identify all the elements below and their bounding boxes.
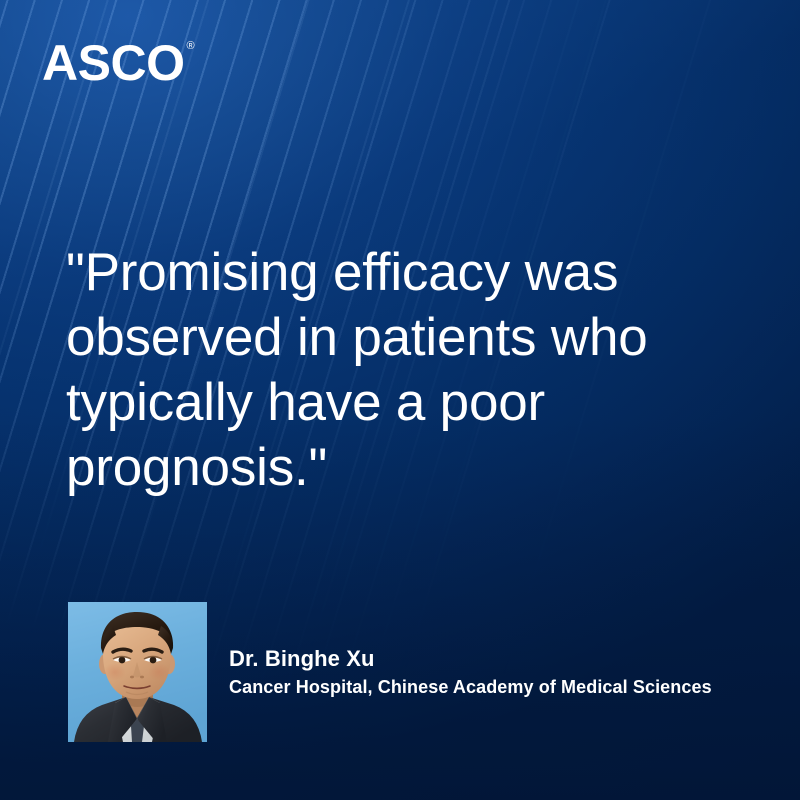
asco-logo-wordmark: ASCO (42, 38, 184, 88)
asco-logo: ASCO ® (42, 38, 195, 88)
attribution-block: Dr. Binghe Xu Cancer Hospital, Chinese A… (68, 602, 712, 742)
speaker-name: Dr. Binghe Xu (229, 644, 712, 674)
attribution-text: Dr. Binghe Xu Cancer Hospital, Chinese A… (229, 602, 712, 700)
quote-card: ASCO ® "Promising efficacy was observed … (0, 0, 800, 800)
pull-quote-text: "Promising efficacy was observed in pati… (66, 240, 716, 500)
speaker-organization: Cancer Hospital, Chinese Academy of Medi… (229, 674, 712, 700)
registered-trademark-icon: ® (186, 41, 194, 52)
speaker-portrait-photo (68, 602, 207, 742)
portrait-illustration (68, 602, 207, 742)
